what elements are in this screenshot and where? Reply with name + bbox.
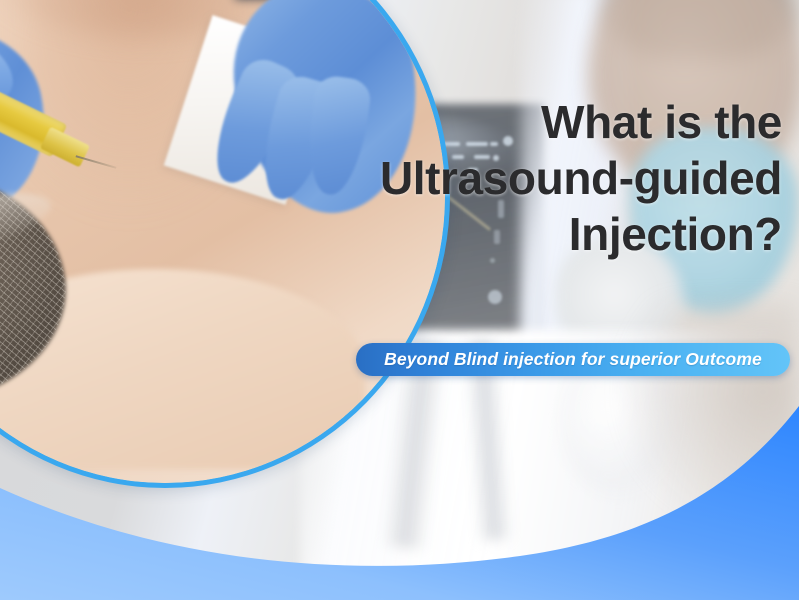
headline-line-2: Ultrasound-guided xyxy=(312,150,782,206)
headline: What is the Ultrasound-guided Injection? xyxy=(312,94,782,262)
monitor-blip xyxy=(488,290,502,304)
subtitle-text: Beyond Blind injection for superior Outc… xyxy=(384,349,762,370)
headline-line-3: Injection? xyxy=(312,206,782,262)
headline-line-1: What is the xyxy=(312,94,782,150)
subtitle-banner: Beyond Blind injection for superior Outc… xyxy=(356,343,790,376)
promotional-banner: What is the Ultrasound-guided Injection?… xyxy=(0,0,799,600)
background-shadow xyxy=(619,300,799,530)
